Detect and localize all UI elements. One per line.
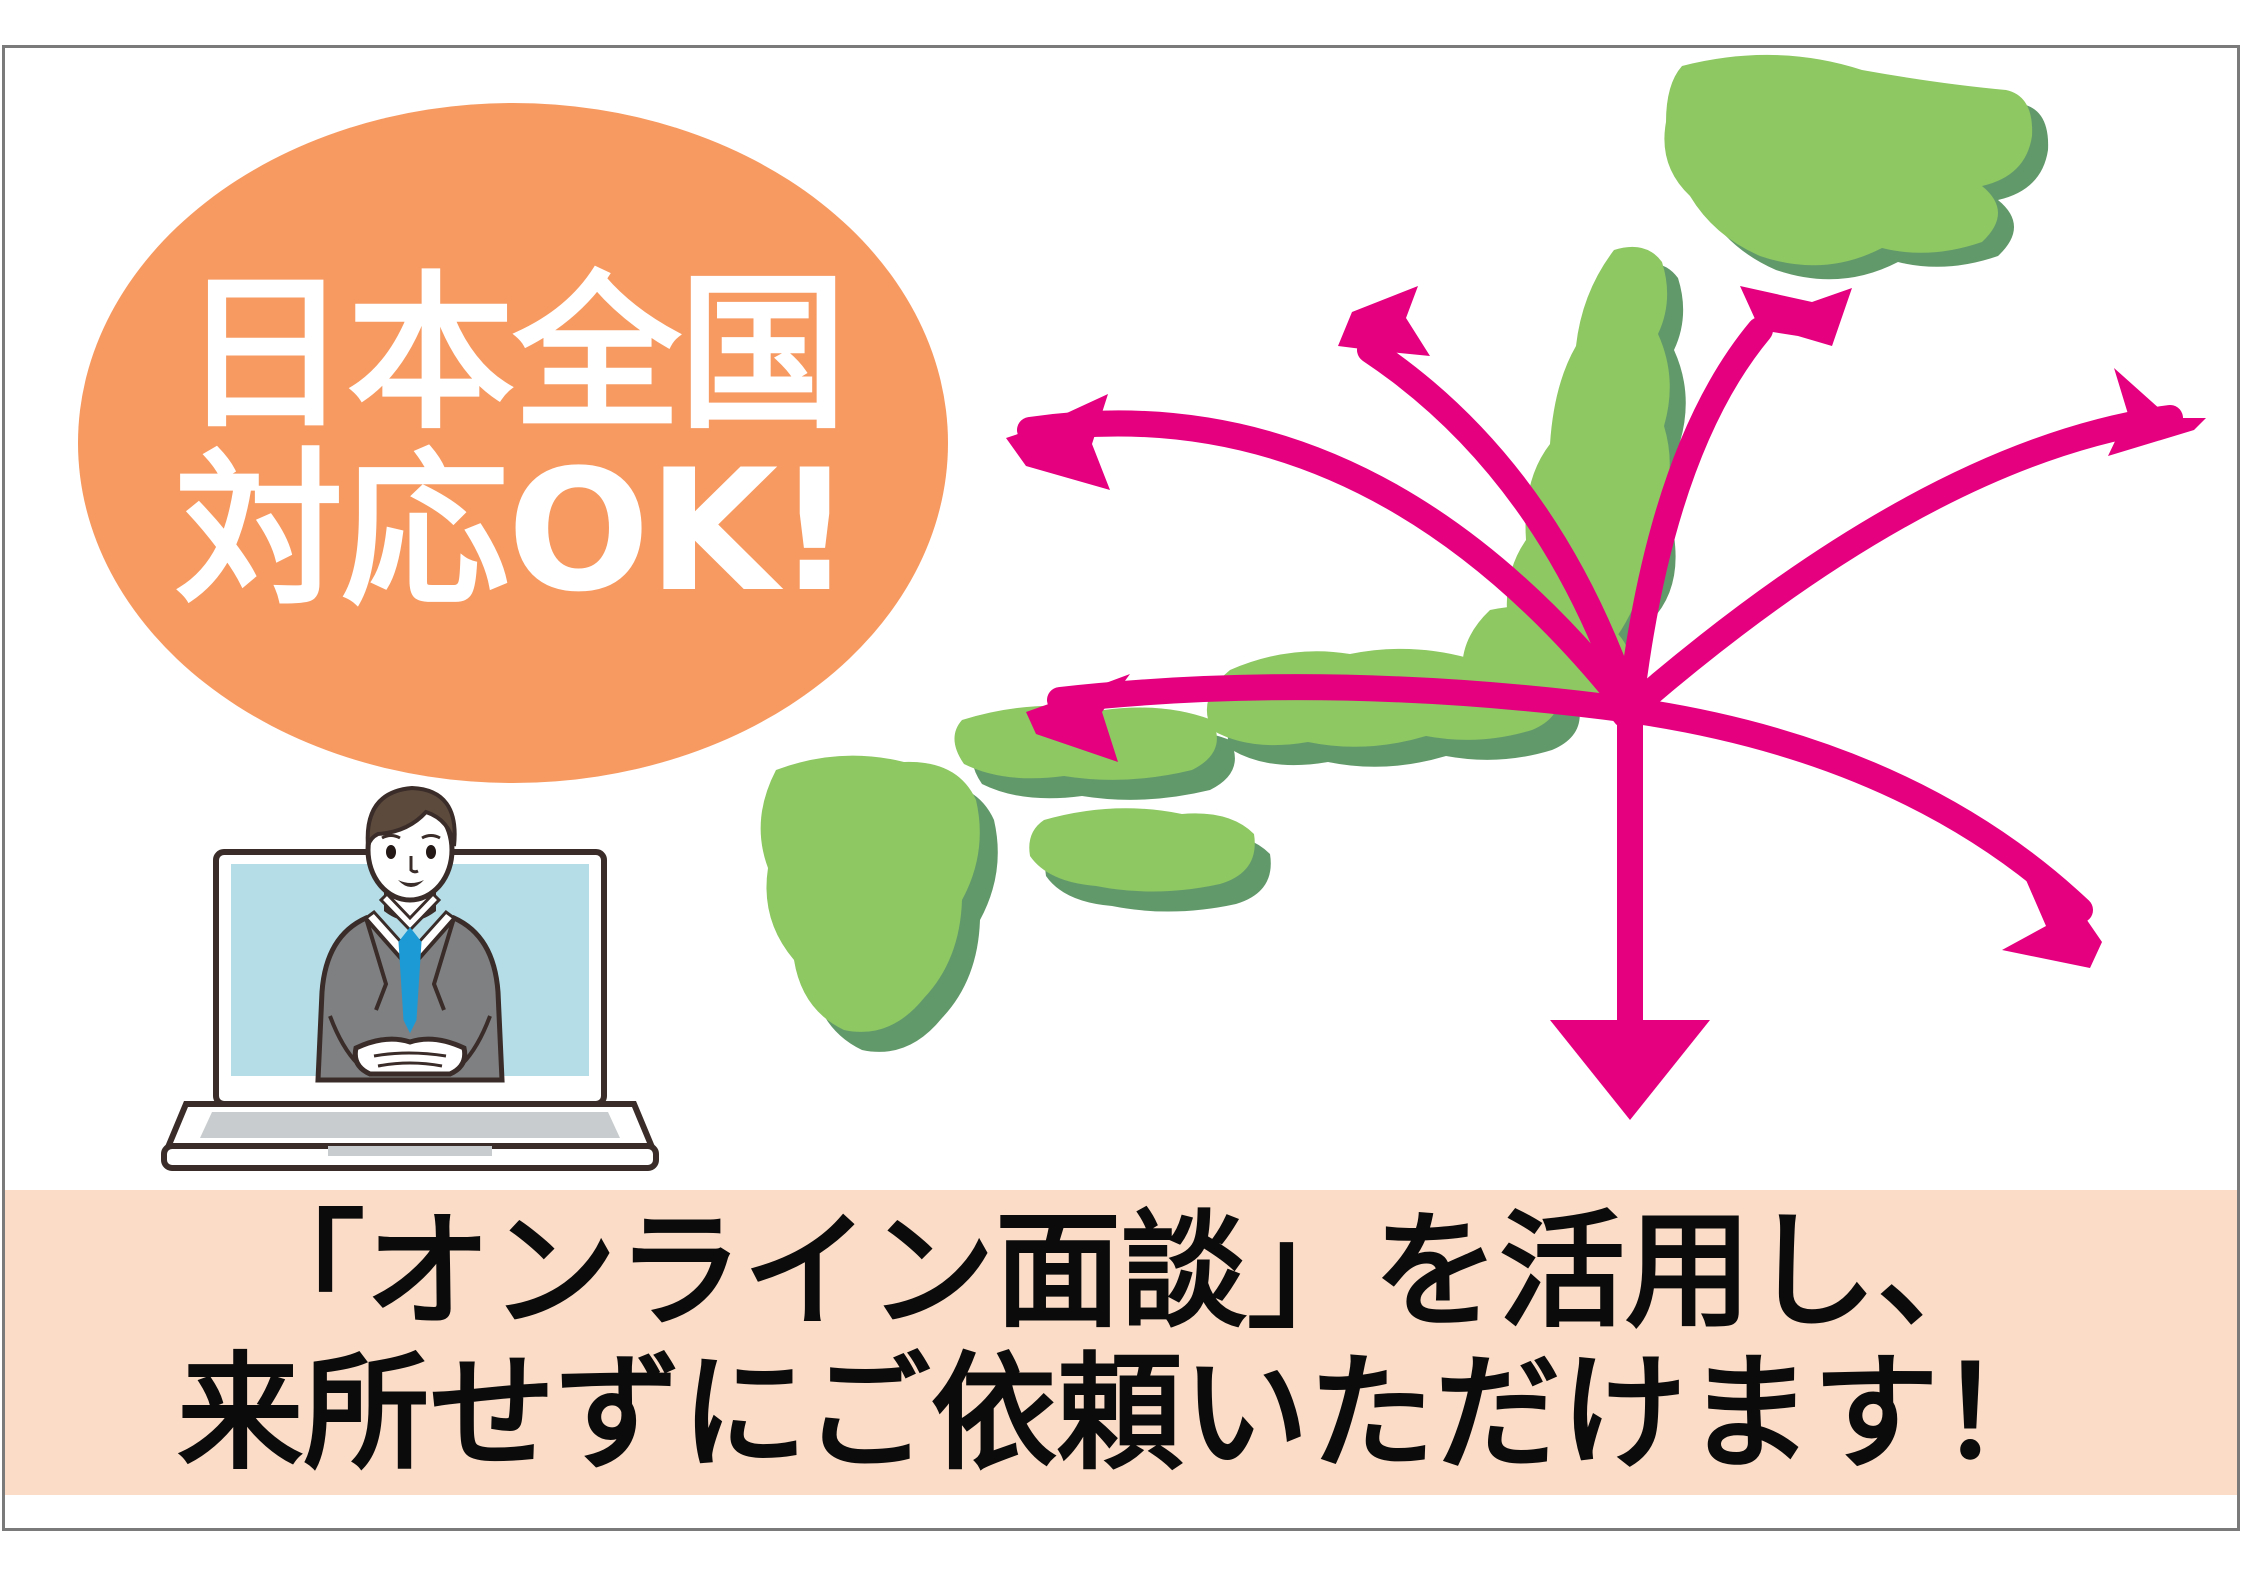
arrow-hub-origin — [1610, 690, 1650, 730]
arrow-head-left — [1006, 394, 1110, 490]
arrow-head-up-left — [1338, 286, 1430, 356]
caption-line-2: 来所せずにご依頼いただけます！ — [177, 1343, 2064, 1484]
laptop-icon — [164, 788, 656, 1168]
slide-canvas: 日本全国 対応OK! — [0, 0, 2245, 1587]
caption-band: 「オンライン面談」を活用し、 来所せずにご依頼いただけます！ — [5, 1190, 2237, 1495]
japan-map-with-arrows — [730, 50, 2220, 1180]
arrow-right-shaft — [1630, 418, 2170, 710]
caption-line-1: 「オンライン面談」を活用し、 — [239, 1201, 2003, 1342]
online-meeting-illustration — [150, 760, 670, 1180]
arrow-head-right — [2108, 368, 2206, 456]
businessman-avatar — [318, 788, 502, 1080]
arrow-down-right-shaft — [1630, 710, 2080, 910]
arrow-head-down — [1550, 1020, 1710, 1120]
